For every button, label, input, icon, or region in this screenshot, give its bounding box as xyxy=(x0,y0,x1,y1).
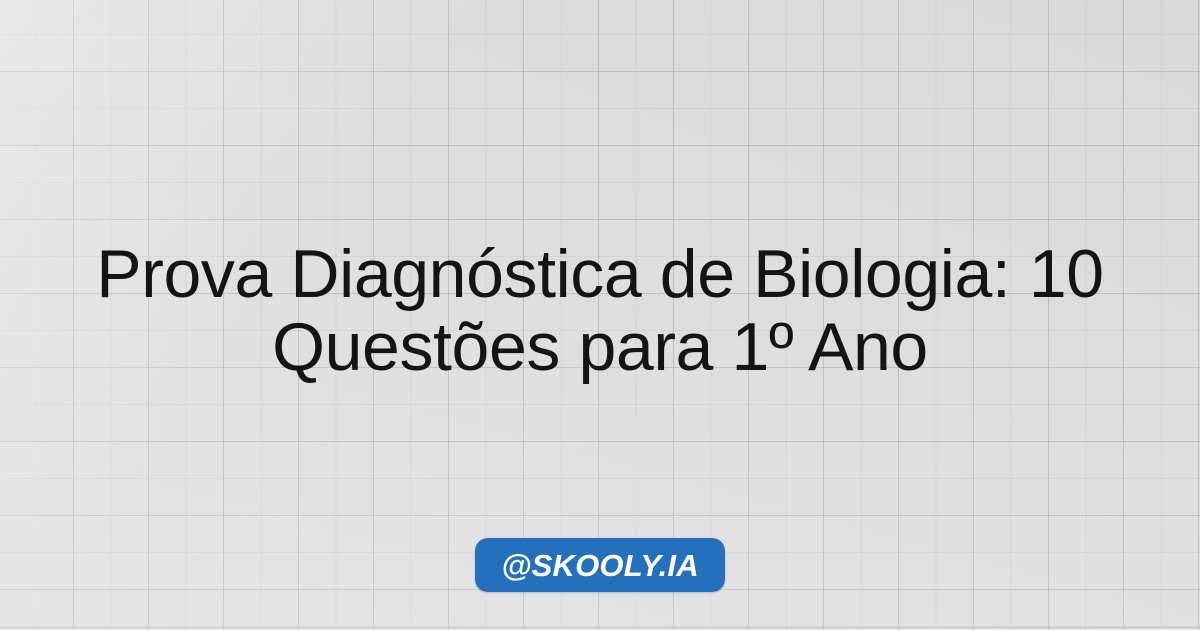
handle-badge-container: @SKOOLY.IA xyxy=(0,538,1200,592)
page-title-text: Prova Diagnóstica de Biologia: 10 Questõ… xyxy=(60,238,1140,384)
handle-badge[interactable]: @SKOOLY.IA xyxy=(475,538,725,592)
handle-badge-label: @SKOOLY.IA xyxy=(501,550,699,581)
page-title: Prova Diagnóstica de Biologia: 10 Questõ… xyxy=(0,238,1200,384)
share-card: Prova Diagnóstica de Biologia: 10 Questõ… xyxy=(0,0,1200,630)
